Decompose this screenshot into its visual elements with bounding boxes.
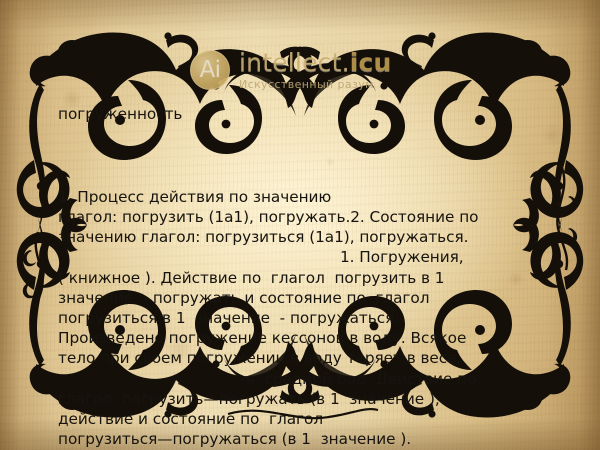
article-line: 1. Процесс действия по значению bbox=[58, 187, 552, 207]
article-line: погрузиться в 1 значение - погружаться. bbox=[58, 308, 552, 328]
article-line: -я, средний род Действие по bbox=[58, 369, 552, 389]
article-line: 1. Погружения, bbox=[58, 247, 552, 267]
article-line: значению глагол: погрузиться (1а1), погр… bbox=[58, 227, 552, 247]
article-line: значение - погружать и состояние по глаг… bbox=[58, 288, 552, 308]
article-line: ( книжное ). Действие по глагол погрузит… bbox=[58, 268, 552, 288]
article-line: глагол: погрузить (1а1), погружать.2. Со… bbox=[58, 207, 552, 227]
parchment-page: Ai intellect.icu Искусственный разум пог… bbox=[0, 0, 600, 450]
headword: погруженность bbox=[58, 104, 552, 124]
dictionary-article: погруженность 1. Процесс действия по зна… bbox=[58, 64, 552, 450]
article-body: 1. Процесс действия по значениюглагол: п… bbox=[58, 187, 552, 450]
article-line: погрузиться—погружаться (в 1 значение ). bbox=[58, 429, 552, 449]
article-line: Произведено погружение кессонов в воду. … bbox=[58, 328, 552, 348]
article-line: действие и состояние по глагол bbox=[58, 409, 552, 429]
article-line: глагол погрузить—погружать (в 1 значение… bbox=[58, 389, 552, 409]
article-line: тело при своем погружении в воду теряет … bbox=[58, 348, 552, 368]
